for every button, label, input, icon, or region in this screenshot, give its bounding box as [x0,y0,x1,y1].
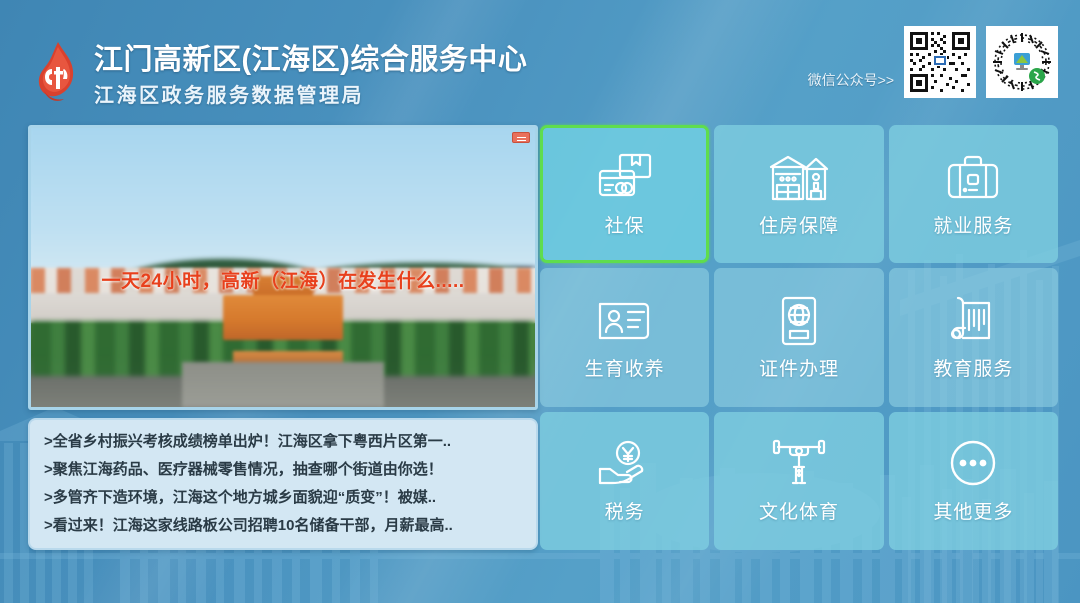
list-item[interactable]: >聚焦江海药品、医疗器械零售情况，抽查哪个街道由你选！ [44,461,522,479]
id-card-person-icon [594,294,656,348]
social-security-card-icon [594,151,656,205]
service-tile-label: 社保 [605,211,645,238]
service-tile-employment[interactable]: 就业服务 [889,125,1058,263]
service-tile-education[interactable]: 教育服务 [889,268,1058,406]
service-tile-label: 税务 [605,497,645,524]
passport-globe-icon [768,294,830,348]
video-player-card[interactable]: 一天24小时，高新（江海）在发生什么..... [28,125,538,410]
wechat-official-account-qr[interactable] [904,26,976,98]
page-header: 江门高新区(江海区)综合服务中心 江海区政务服务数据管理局 微信公众号>> [0,0,1080,118]
service-tile-grid: 社保 住房保障 [540,125,1058,550]
page-title: 江门高新区(江海区)综合服务中心 [94,36,527,78]
service-tile-label: 其他更多 [933,497,1013,524]
list-item[interactable]: >全省乡村振兴考核成绩榜单出炉！江海区拿下粤西片区第一.. [44,433,522,451]
close-icon[interactable] [512,132,530,143]
service-tile-label: 教育服务 [933,354,1013,381]
service-tile-social-security[interactable]: 社保 [540,125,709,263]
scroll-book-icon [942,294,1004,348]
service-tile-label: 生育收养 [585,354,665,381]
service-tile-tax[interactable]: 税务 [540,412,709,550]
brand-block: 江门高新区(江海区)综合服务中心 江海区政务服务数据管理局 [34,36,527,108]
service-tile-certificates[interactable]: 证件办理 [714,268,883,406]
list-item[interactable]: >看过来！江海这家线路板公司招聘10名储备干部，月薪最高.. [44,517,522,535]
wechat-mini-program-qr[interactable] [986,26,1058,98]
housing-building-icon [768,151,830,205]
weightlifter-icon [768,437,830,491]
page-subtitle: 江海区政务服务数据管理局 [94,79,527,108]
service-tile-label: 就业服务 [933,211,1013,238]
wechat-label: 微信公众号>> [808,70,894,98]
service-tile-housing[interactable]: 住房保障 [714,125,883,263]
service-tile-label: 文化体育 [759,497,839,524]
wechat-qr-group: 微信公众号>> [808,26,1058,98]
more-dots-circle-icon [942,437,1004,491]
briefcase-icon [942,151,1004,205]
jianghai-flame-emblem-icon [34,41,84,103]
service-tile-birth-adoption[interactable]: 生育收养 [540,268,709,406]
service-tile-more[interactable]: 其他更多 [889,412,1058,550]
service-tile-culture-sports[interactable]: 文化体育 [714,412,883,550]
video-caption: 一天24小时，高新（江海）在发生什么..... [31,266,535,293]
service-tile-label: 证件办理 [759,354,839,381]
service-tile-label: 住房保障 [759,211,839,238]
hand-yuan-coin-icon [594,437,656,491]
news-list: >全省乡村振兴考核成绩榜单出炉！江海区拿下粤西片区第一.. >聚焦江海药品、医疗… [28,418,538,550]
list-item[interactable]: >多管齐下造环境，江海这个地方城乡面貌迎“质变”！被媒.. [44,489,522,507]
